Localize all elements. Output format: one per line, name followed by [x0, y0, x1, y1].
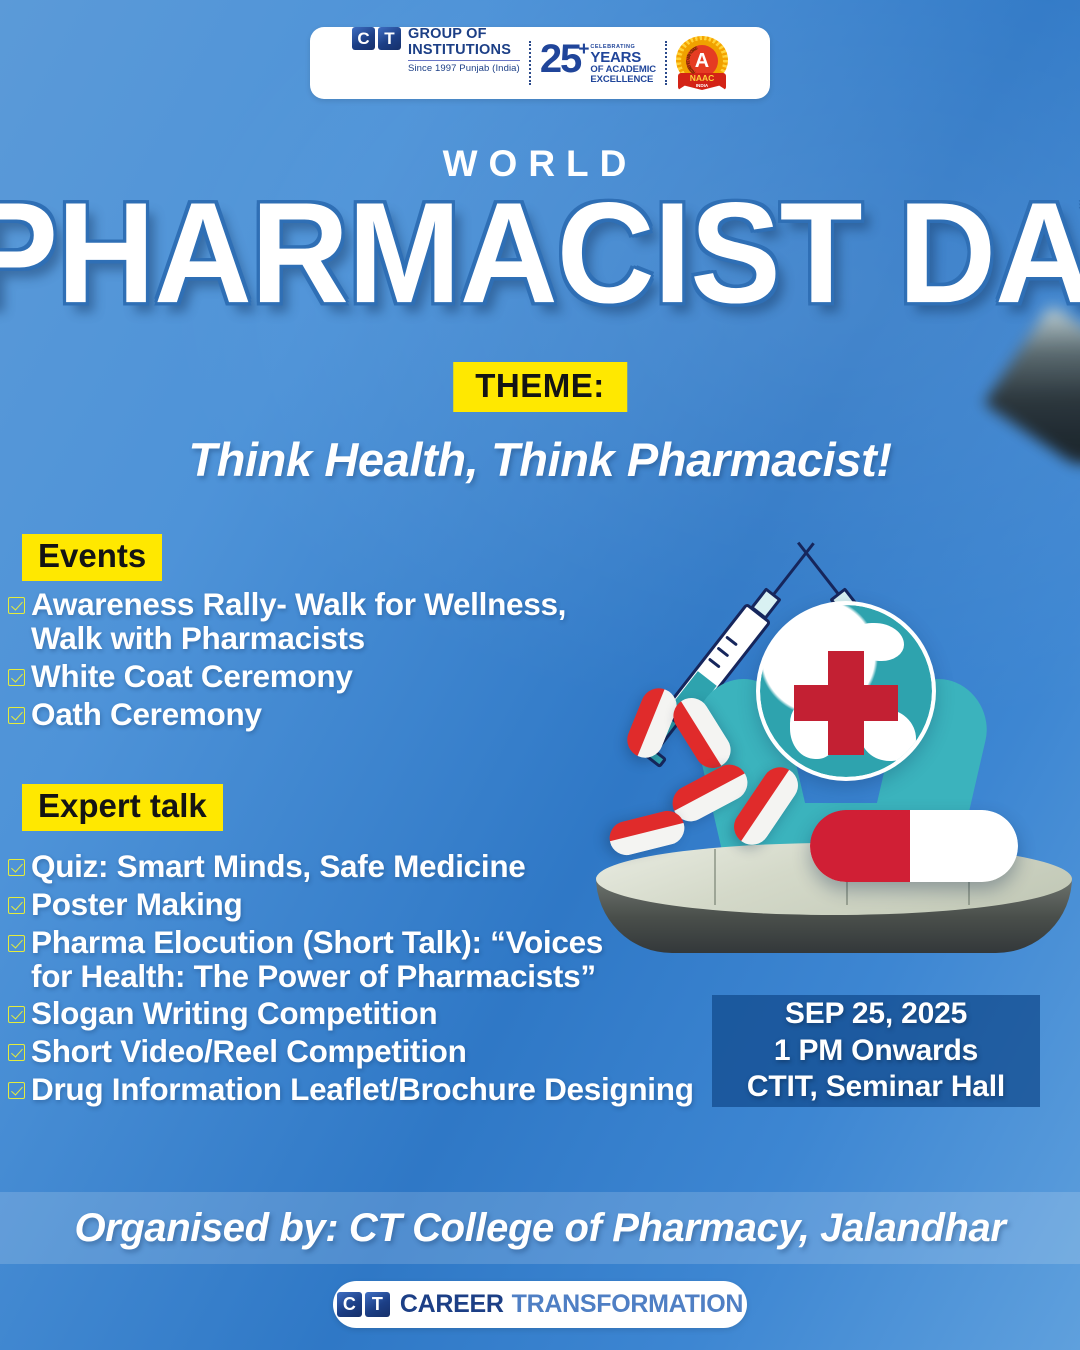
- ct-group-logo: C T GROUP OF INSTITUTIONS Since 1997 Pun…: [352, 27, 520, 99]
- list-item-label: Awareness Rally- Walk for Wellness, Walk…: [31, 588, 566, 656]
- list-item: Slogan Writing Competition: [8, 997, 708, 1031]
- naac-arc-text: ACCREDITED WITH GRADE: [682, 41, 722, 81]
- event-venue: CTIT, Seminar Hall: [747, 1069, 1005, 1106]
- career-transformation-badge: C T CAREER TRANSFORMATION: [333, 1281, 747, 1328]
- ct-letter-t: T: [378, 27, 401, 50]
- checkbox-icon: [8, 597, 25, 614]
- excellence-label: EXCELLENCE: [590, 75, 656, 85]
- checkbox-icon: [8, 897, 25, 914]
- podium-seam: [714, 849, 716, 905]
- list-item: Awareness Rally- Walk for Wellness, Walk…: [8, 588, 708, 656]
- ct-group-wordmark: GROUP OF INSTITUTIONS Since 1997 Punjab …: [408, 27, 520, 74]
- checkbox-icon: [8, 1006, 25, 1023]
- section-badge-expert-talk: Expert talk: [22, 784, 223, 831]
- years-number: 25: [540, 42, 581, 77]
- list-item: Oath Ceremony: [8, 698, 708, 732]
- list-item-label: Quiz: Smart Minds, Safe Medicine: [31, 850, 526, 884]
- syringe-needle: [797, 542, 840, 596]
- wordmark-divider: [408, 60, 520, 62]
- naac-seal-icon: A NAAC INDIA ACCREDITED WITH GRADE: [676, 36, 728, 90]
- checkbox-icon: [8, 1044, 25, 1061]
- checkbox-icon: [8, 935, 25, 952]
- since-label: Since 1997 Punjab (India): [408, 63, 520, 74]
- list-item-label: Short Video/Reel Competition: [31, 1035, 467, 1069]
- poster-canvas: C T GROUP OF INSTITUTIONS Since 1997 Pun…: [0, 0, 1080, 1350]
- capsule-red-half: [810, 810, 918, 882]
- list-item: Pharma Elocution (Short Talk): “Voices f…: [8, 926, 708, 994]
- page-title: PHARMACIST DAY: [0, 182, 1080, 325]
- group-of-label: GROUP OF: [408, 27, 520, 42]
- checkbox-icon: [8, 669, 25, 686]
- career-label: CAREER: [400, 1290, 504, 1319]
- list-item: Short Video/Reel Competition: [8, 1035, 708, 1069]
- institutions-label: INSTITUTIONS: [408, 43, 520, 58]
- ct-letter-c: C: [352, 27, 375, 50]
- list-item-label: White Coat Ceremony: [31, 660, 353, 694]
- logo-bar-divider-1: [529, 41, 531, 85]
- checkbox-icon: [8, 707, 25, 724]
- event-details-box: SEP 25, 2025 1 PM Onwards CTIT, Seminar …: [712, 995, 1040, 1107]
- red-cross-horizontal: [794, 685, 898, 721]
- syringe-needle: [771, 542, 814, 596]
- event-time: 1 PM Onwards: [774, 1033, 978, 1070]
- list-item: Poster Making: [8, 888, 708, 922]
- list-item: Drug Information Leaflet/Brochure Design…: [8, 1073, 708, 1107]
- logo-bar-divider-2: [665, 41, 667, 85]
- capsule-white-half: [910, 810, 1018, 882]
- checkbox-icon: [8, 1082, 25, 1099]
- checkbox-icon: [8, 859, 25, 876]
- ct-monogram-icon-footer: C T: [337, 1292, 390, 1317]
- years-plus-icon: +: [578, 40, 589, 59]
- list-item-label: Slogan Writing Competition: [31, 997, 437, 1031]
- naac-accreditation-badge: A NAAC INDIA ACCREDITED WITH GRADE: [676, 27, 728, 99]
- organised-by-text: Organised by: CT College of Pharmacy, Ja…: [74, 1206, 1005, 1251]
- list-item: Quiz: Smart Minds, Safe Medicine: [8, 850, 708, 884]
- list-item: White Coat Ceremony: [8, 660, 708, 694]
- list-item-label: Poster Making: [31, 888, 242, 922]
- anniversary-block: 25 + CELEBRATING YEARS OF ACADEMIC EXCEL…: [540, 27, 656, 99]
- event-date: SEP 25, 2025: [785, 996, 967, 1033]
- list-item-label: Pharma Elocution (Short Talk): “Voices f…: [31, 926, 603, 994]
- ct-letter-c-footer: C: [337, 1292, 362, 1317]
- large-capsule-icon: [810, 810, 1018, 882]
- header-logo-bar: C T GROUP OF INSTITUTIONS Since 1997 Pun…: [310, 27, 770, 99]
- theme-label-badge: THEME:: [453, 362, 627, 412]
- theme-tagline: Think Health, Think Pharmacist!: [0, 432, 1080, 487]
- globe-icon: [756, 601, 936, 781]
- organised-by-band: Organised by: CT College of Pharmacy, Ja…: [0, 1192, 1080, 1264]
- expert-talk-list: Quiz: Smart Minds, Safe Medicine Poster …: [8, 850, 708, 1111]
- transformation-label: TRANSFORMATION: [512, 1290, 743, 1319]
- section-badge-events: Events: [22, 534, 162, 581]
- ct-letter-t-footer: T: [365, 1292, 390, 1317]
- naac-sub-label: INDIA: [678, 84, 726, 88]
- list-item-label: Drug Information Leaflet/Brochure Design…: [31, 1073, 694, 1107]
- ct-monogram-icon: C T: [352, 27, 401, 50]
- years-label: YEARS: [590, 50, 656, 65]
- events-list: Awareness Rally- Walk for Wellness, Walk…: [8, 588, 708, 735]
- list-item-label: Oath Ceremony: [31, 698, 262, 732]
